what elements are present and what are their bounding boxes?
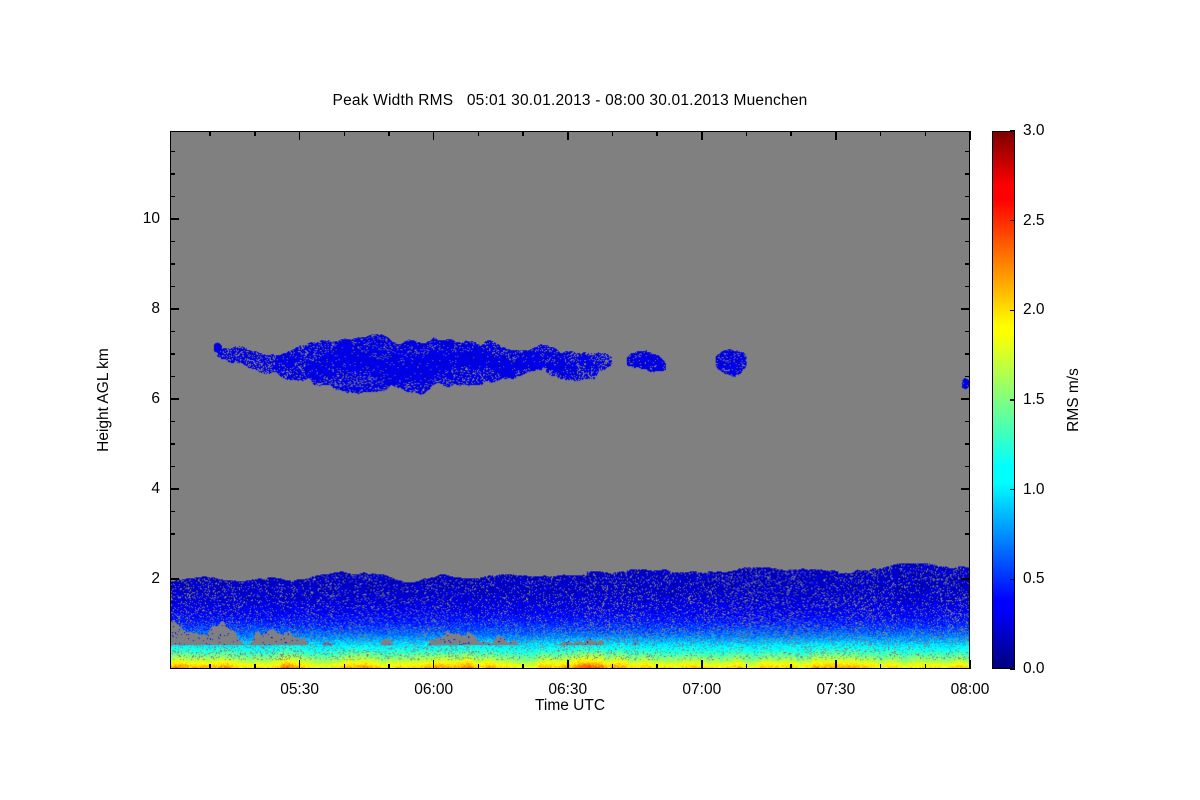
y-tick-right-minor xyxy=(965,511,970,513)
y-tick-major xyxy=(170,398,179,400)
y-tick-label: 4 xyxy=(112,480,160,498)
y-tick-minor xyxy=(170,421,175,423)
y-tick-right-minor xyxy=(965,286,970,288)
y-tick-label: 10 xyxy=(112,210,160,228)
y-tick-minor xyxy=(170,331,175,333)
y-tick-right-minor xyxy=(965,263,970,265)
x-tick-major xyxy=(433,660,435,669)
plot-title: Peak Width RMS 05:01 30.01.2013 - 08:00 … xyxy=(170,92,970,110)
x-tick-top-major xyxy=(567,131,569,140)
x-tick-minor xyxy=(925,664,927,669)
y-tick-label: 6 xyxy=(112,390,160,408)
x-tick-major xyxy=(835,660,837,669)
y-tick-major xyxy=(170,488,179,490)
y-tick-right-major xyxy=(961,308,970,310)
x-tick-minor xyxy=(344,664,346,669)
x-tick-minor xyxy=(478,664,480,669)
y-tick-right-minor xyxy=(965,173,970,175)
y-tick-right-minor xyxy=(965,196,970,198)
y-tick-minor xyxy=(170,241,175,243)
y-tick-minor xyxy=(170,353,175,355)
x-tick-top-minor xyxy=(254,131,256,136)
x-tick-top-major xyxy=(299,131,301,140)
y-tick-label: 8 xyxy=(112,300,160,318)
x-tick-top-major xyxy=(969,131,971,140)
x-tick-top-minor xyxy=(344,131,346,136)
x-tick-minor xyxy=(746,664,748,669)
y-tick-right-minor xyxy=(965,151,970,153)
colorbar-tick xyxy=(1010,399,1015,400)
x-tick-top-major xyxy=(701,131,703,140)
x-axis-label: Time UTC xyxy=(170,697,970,715)
y-tick-minor xyxy=(170,151,175,153)
colorbar-tick-label: 1.5 xyxy=(1023,391,1045,409)
colorbar-tick xyxy=(1010,220,1015,221)
x-tick-minor xyxy=(880,664,882,669)
x-tick-minor xyxy=(522,664,524,669)
y-tick-right-major xyxy=(961,398,970,400)
y-tick-right-major xyxy=(961,218,970,220)
y-tick-right-minor xyxy=(965,421,970,423)
colorbar-tick-label: 2.5 xyxy=(1023,212,1045,230)
x-tick-top-minor xyxy=(522,131,524,136)
y-tick-minor xyxy=(170,173,175,175)
y-tick-right-major xyxy=(961,578,970,580)
x-tick-minor xyxy=(209,664,211,669)
y-tick-right-minor xyxy=(965,443,970,445)
y-tick-right-minor xyxy=(965,376,970,378)
colorbar-tick xyxy=(1010,668,1015,669)
x-tick-minor xyxy=(656,664,658,669)
x-tick-top-minor xyxy=(478,131,480,136)
y-tick-right-minor xyxy=(965,466,970,468)
x-tick-major xyxy=(299,660,301,669)
x-tick-top-minor xyxy=(790,131,792,136)
plot-axes-area xyxy=(170,131,970,669)
x-tick-top-minor xyxy=(656,131,658,136)
y-tick-minor xyxy=(170,376,175,378)
y-tick-right-major xyxy=(961,488,970,490)
colorbar-tick-label: 1.0 xyxy=(1023,481,1045,499)
colorbar-tick xyxy=(1010,489,1015,490)
y-tick-minor xyxy=(170,466,175,468)
x-tick-top-minor xyxy=(880,131,882,136)
x-tick-top-minor xyxy=(209,131,211,136)
colorbar-tick-label: 2.0 xyxy=(1023,301,1045,319)
y-tick-major xyxy=(170,308,179,310)
y-tick-right-minor xyxy=(965,533,970,535)
y-tick-minor xyxy=(170,443,175,445)
x-tick-top-minor xyxy=(388,131,390,136)
y-tick-major xyxy=(170,218,179,220)
heatmap-data-canvas xyxy=(171,132,969,668)
x-tick-major xyxy=(701,660,703,669)
y-tick-minor xyxy=(170,286,175,288)
y-tick-right-minor xyxy=(965,353,970,355)
y-tick-minor xyxy=(170,263,175,265)
x-tick-major xyxy=(567,660,569,669)
colorbar-tick xyxy=(1010,130,1015,131)
x-tick-top-minor xyxy=(746,131,748,136)
y-tick-right-minor xyxy=(965,241,970,243)
colorbar-tick xyxy=(1010,579,1015,580)
x-tick-top-minor xyxy=(612,131,614,136)
x-tick-minor xyxy=(790,664,792,669)
x-tick-minor xyxy=(388,664,390,669)
y-tick-minor xyxy=(170,511,175,513)
x-tick-major xyxy=(969,660,971,669)
figure-canvas: Peak Width RMS 05:01 30.01.2013 - 08:00 … xyxy=(0,0,1200,800)
y-tick-major xyxy=(170,578,179,580)
colorbar-tick-label: 0.0 xyxy=(1023,660,1045,678)
x-tick-top-major xyxy=(433,131,435,140)
colorbar-tick xyxy=(1010,310,1015,311)
x-tick-top-minor xyxy=(925,131,927,136)
y-axis-label: Height AGL km xyxy=(95,348,113,452)
x-tick-minor xyxy=(612,664,614,669)
colorbar-tick-label: 0.5 xyxy=(1023,570,1045,588)
y-tick-minor xyxy=(170,196,175,198)
y-tick-right-minor xyxy=(965,331,970,333)
y-tick-minor xyxy=(170,533,175,535)
y-tick-label: 2 xyxy=(112,570,160,588)
colorbar-label: RMS m/s xyxy=(1065,368,1083,432)
x-tick-minor xyxy=(254,664,256,669)
colorbar-tick-label: 3.0 xyxy=(1023,122,1045,140)
x-tick-top-major xyxy=(835,131,837,140)
